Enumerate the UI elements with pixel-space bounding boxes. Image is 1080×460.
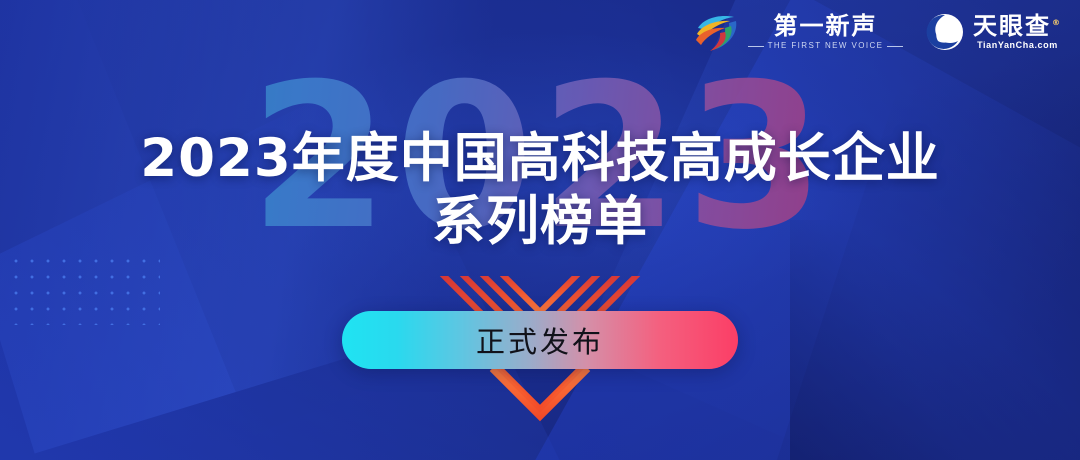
logo-tianyancha-name: 天眼查®: [973, 14, 1062, 40]
logo-bar: 第一新声 THE FIRST NEW VOICE 天眼查® TianYanCh: [694, 12, 1062, 52]
title-line-1: 2023年度中国高科技高成长企业: [0, 131, 1080, 187]
logo-diyixinsheng[interactable]: 第一新声 THE FIRST NEW VOICE: [694, 12, 903, 52]
dot-grid-decoration: [8, 253, 160, 325]
banner-title: 2023年度中国高科技高成长企业 系列榜单: [0, 131, 1080, 250]
logo-tianyancha-text: 天眼查® TianYanCha.com: [973, 14, 1062, 51]
tagline-rule-right: [887, 46, 903, 47]
logo-diyixinsheng-tagline: THE FIRST NEW VOICE: [748, 41, 903, 50]
release-status-label: 正式发布: [476, 319, 604, 361]
title-line-2: 系列榜单: [0, 194, 1080, 250]
logo-tianyancha[interactable]: 天眼查® TianYanCha.com: [925, 12, 1062, 52]
promo-banner: 2023: [0, 0, 1080, 460]
tagline-text: THE FIRST NEW VOICE: [768, 41, 884, 50]
swoosh-logo-icon: [694, 12, 740, 52]
eye-aperture-logo-icon: [925, 12, 965, 52]
tagline-rule-left: [748, 46, 764, 47]
trademark-symbol: ®: [1052, 18, 1062, 27]
logo-tianyancha-tagline: TianYanCha.com: [977, 40, 1058, 50]
logo-diyixinsheng-text: 第一新声 THE FIRST NEW VOICE: [748, 14, 903, 51]
logo-tianyancha-cn: 天眼查: [973, 12, 1051, 40]
release-status-pill[interactable]: 正式发布: [342, 311, 738, 369]
logo-diyixinsheng-name: 第一新声: [774, 14, 878, 40]
